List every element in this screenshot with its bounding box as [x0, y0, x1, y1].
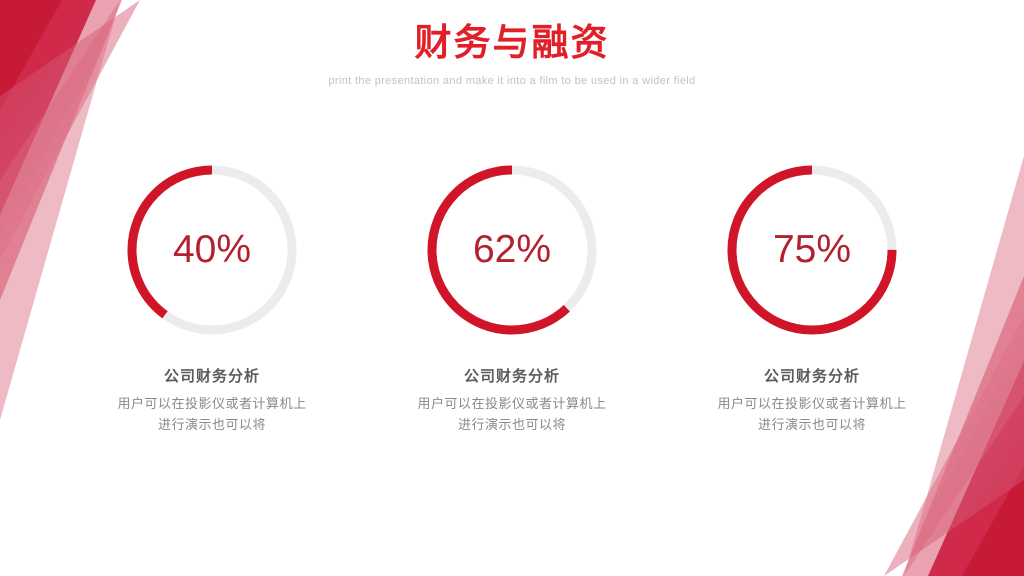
donut-value-2: 62% [422, 160, 602, 340]
donut-chart-3: 75% [722, 160, 902, 340]
donut-chart-1: 40% [122, 160, 302, 340]
caption-title-1: 公司财务分析 [62, 365, 362, 387]
caption-body-1: 用户可以在投影仪或者计算机上 进行演示也可以将 [62, 394, 362, 436]
caption-body-line-1: 用户可以在投影仪或者计算机上 [362, 394, 662, 415]
metric-caption-3: 公司财务分析 用户可以在投影仪或者计算机上 进行演示也可以将 [662, 365, 962, 436]
caption-body-line-1: 用户可以在投影仪或者计算机上 [662, 394, 962, 415]
metric-column-1: 40% 公司财务分析 用户可以在投影仪或者计算机上 进行演示也可以将 [62, 160, 362, 436]
page-title: 财务与融资 [0, 20, 1024, 66]
caption-body-line-2: 进行演示也可以将 [62, 415, 362, 436]
page-subtitle: print the presentation and make it into … [0, 74, 1024, 88]
donut-value-1: 40% [122, 160, 302, 340]
caption-title-2: 公司财务分析 [362, 365, 662, 387]
donut-chart-2: 62% [422, 160, 602, 340]
donut-value-3: 75% [722, 160, 902, 340]
metric-column-2: 62% 公司财务分析 用户可以在投影仪或者计算机上 进行演示也可以将 [362, 160, 662, 436]
caption-body-line-2: 进行演示也可以将 [662, 415, 962, 436]
caption-title-3: 公司财务分析 [662, 365, 962, 387]
metric-caption-1: 公司财务分析 用户可以在投影仪或者计算机上 进行演示也可以将 [62, 365, 362, 436]
metrics-row: 40% 公司财务分析 用户可以在投影仪或者计算机上 进行演示也可以将 62% 公 [62, 160, 962, 436]
caption-body-line-1: 用户可以在投影仪或者计算机上 [62, 394, 362, 415]
caption-body-2: 用户可以在投影仪或者计算机上 进行演示也可以将 [362, 394, 662, 436]
slide-header: 财务与融资 print the presentation and make it… [0, 20, 1024, 88]
caption-body-3: 用户可以在投影仪或者计算机上 进行演示也可以将 [662, 394, 962, 436]
metric-column-3: 75% 公司财务分析 用户可以在投影仪或者计算机上 进行演示也可以将 [662, 160, 962, 436]
slide-canvas: 财务与融资 print the presentation and make it… [0, 0, 1024, 576]
metric-caption-2: 公司财务分析 用户可以在投影仪或者计算机上 进行演示也可以将 [362, 365, 662, 436]
caption-body-line-2: 进行演示也可以将 [362, 415, 662, 436]
